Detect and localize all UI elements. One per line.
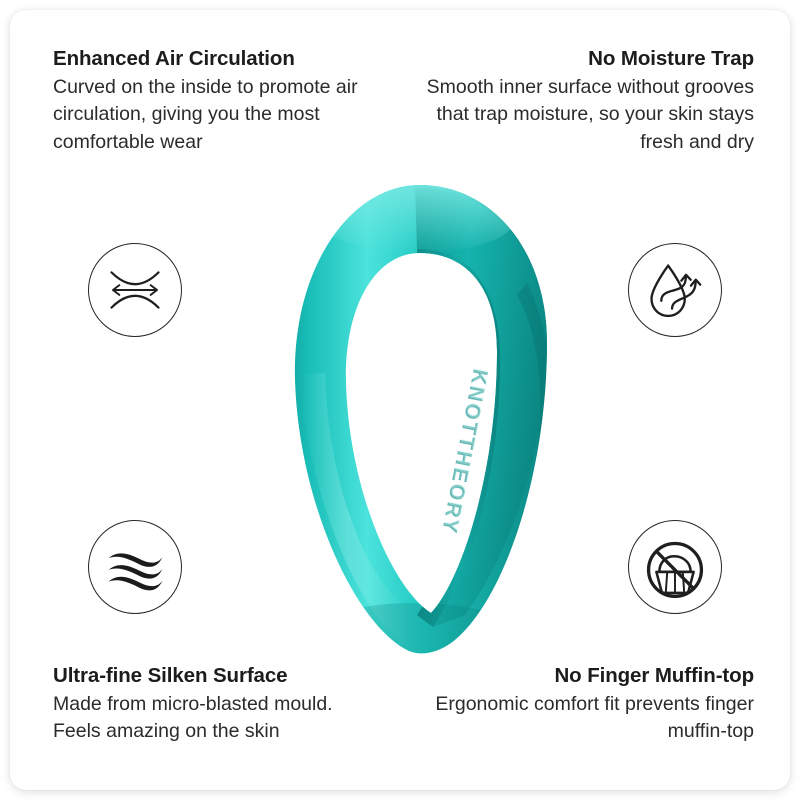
feature-title-top-right: No Moisture Trap [424, 46, 754, 73]
silken-waves-icon [88, 520, 182, 614]
feature-block-top-right: No Moisture Trap Smooth inner surface wi… [424, 46, 754, 157]
moisture-droplet-icon [628, 243, 722, 337]
no-muffin-icon [628, 520, 722, 614]
feature-block-top-left: Enhanced Air Circulation Curved on the i… [53, 46, 383, 157]
feature-description-top-right: Smooth inner surface without grooves tha… [424, 74, 754, 157]
feature-title-bottom-left: Ultra-fine Silken Surface [53, 663, 383, 690]
infographic-card: Enhanced Air Circulation Curved on the i… [10, 10, 790, 790]
feature-title-top-left: Enhanced Air Circulation [53, 46, 383, 73]
air-circulation-icon [88, 243, 182, 337]
feature-block-bottom-right: No Finger Muffin-top Ergonomic comfort f… [424, 663, 754, 746]
feature-description-bottom-left: Made from micro-blasted mould. Feels ama… [53, 691, 383, 746]
product-ring-image: KNOTTHEORY KNOTTHEORY [265, 175, 575, 665]
feature-description-top-left: Curved on the inside to promote air circ… [53, 74, 383, 157]
feature-title-bottom-right: No Finger Muffin-top [424, 663, 754, 690]
feature-block-bottom-left: Ultra-fine Silken Surface Made from micr… [53, 663, 383, 746]
feature-description-bottom-right: Ergonomic comfort fit prevents finger mu… [424, 691, 754, 746]
